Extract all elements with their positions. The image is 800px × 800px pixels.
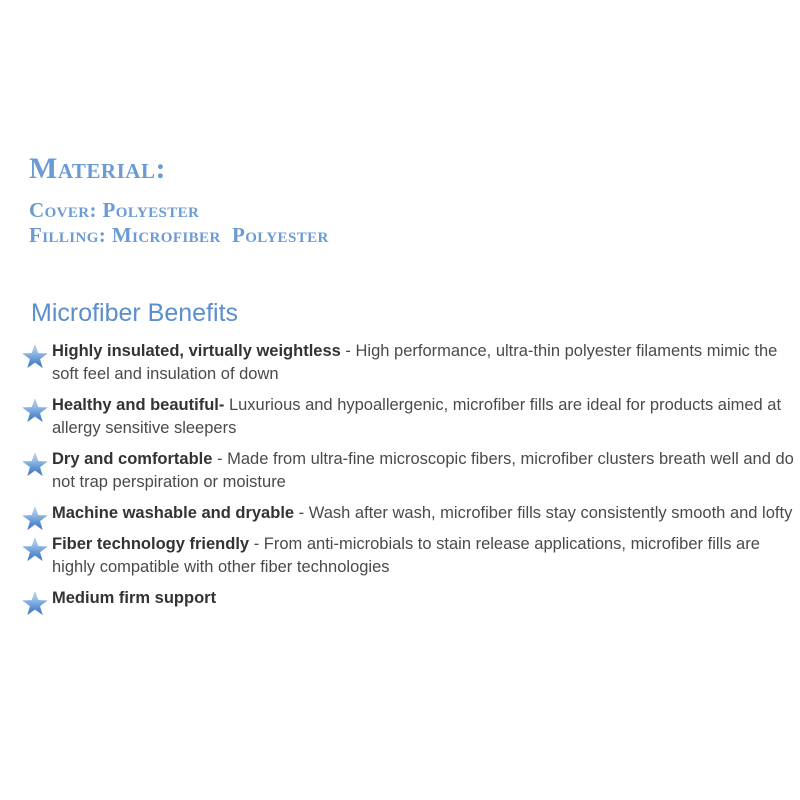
benefit-item: Machine washable and dryable - Wash afte… [22, 502, 794, 525]
benefit-item: Fiber technology friendly - From anti-mi… [22, 533, 794, 579]
benefit-separator: - [294, 504, 309, 522]
benefit-item: Healthy and beautiful- Luxurious and hyp… [22, 394, 794, 440]
benefit-separator: - [249, 535, 264, 553]
benefit-lead: Dry and comfortable [52, 450, 212, 468]
star-icon [22, 452, 48, 478]
benefits-list: Highly insulated, virtually weightless -… [22, 340, 794, 610]
material-section: Material: Cover: Polyester Filling: Micr… [29, 152, 329, 248]
benefit-item: Medium firm support [22, 587, 794, 610]
star-icon [22, 344, 48, 370]
benefit-lead: Healthy and beautiful- [52, 396, 224, 414]
benefit-lead: Highly insulated, virtually weightless [52, 342, 341, 360]
benefit-lead: Medium firm support [52, 589, 216, 607]
benefit-separator: - [341, 342, 356, 360]
benefit-description: Wash after wash, microfiber fills stay c… [309, 504, 793, 522]
benefit-separator: - [212, 450, 227, 468]
star-icon [22, 537, 48, 563]
product-description-page: Material: Cover: Polyester Filling: Micr… [0, 0, 800, 800]
star-icon [22, 398, 48, 424]
benefits-heading: Microfiber Benefits [31, 298, 238, 328]
material-title: Material: [29, 152, 329, 186]
star-icon [22, 591, 48, 617]
star-icon [22, 506, 48, 532]
benefit-lead: Machine washable and dryable [52, 504, 294, 522]
material-cover-line: Cover: Polyester [29, 198, 329, 223]
benefit-lead: Fiber technology friendly [52, 535, 249, 553]
benefit-item: Dry and comfortable - Made from ultra-fi… [22, 448, 794, 494]
material-filling-line: Filling: Microfiber Polyester [29, 223, 329, 248]
benefit-item: Highly insulated, virtually weightless -… [22, 340, 794, 386]
